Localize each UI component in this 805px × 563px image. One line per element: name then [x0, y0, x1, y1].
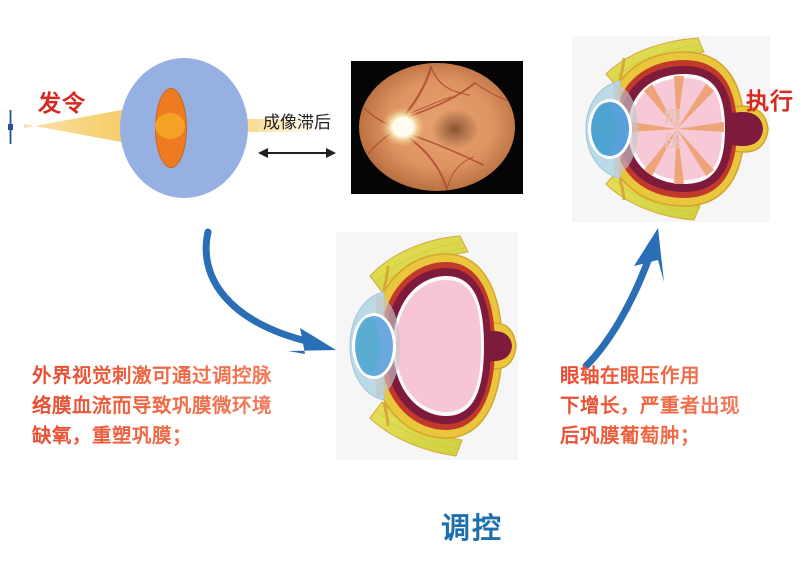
- annotation-right-paragraph: 眼轴在眼压作用 下增长，严重者出现 后巩膜葡萄肿；: [560, 361, 800, 451]
- label-command: 发令: [38, 84, 86, 118]
- double-headed-arrow-icon: [258, 145, 336, 161]
- label-execute: 执行: [746, 82, 794, 116]
- label-regulate: 调控: [441, 505, 503, 547]
- eye-anatomy-graphic: [336, 232, 518, 460]
- figure-canvas: 发令 成像滞后: [0, 0, 805, 563]
- schematic-eye-lens-highlight: [155, 113, 185, 139]
- curved-arrow-down-right-icon: [168, 222, 358, 357]
- label-imaging-lag: 成像滞后: [263, 108, 331, 133]
- label-intraocular-pressure: 眼 压: [663, 106, 683, 154]
- fundus-photograph: [351, 61, 523, 194]
- center-eye-illustration: [336, 232, 518, 460]
- curved-arrow-up-right-icon: [580, 220, 695, 370]
- fundus-photo-graphic: [351, 61, 523, 194]
- light-source-marker-icon: [8, 110, 13, 144]
- annotation-left-paragraph: 外界视觉刺激可通过调控脉 络膜血流而导致巩膜微环境 缺氧，重塑巩膜；: [32, 361, 332, 451]
- schematic-myopic-eye: [120, 58, 248, 198]
